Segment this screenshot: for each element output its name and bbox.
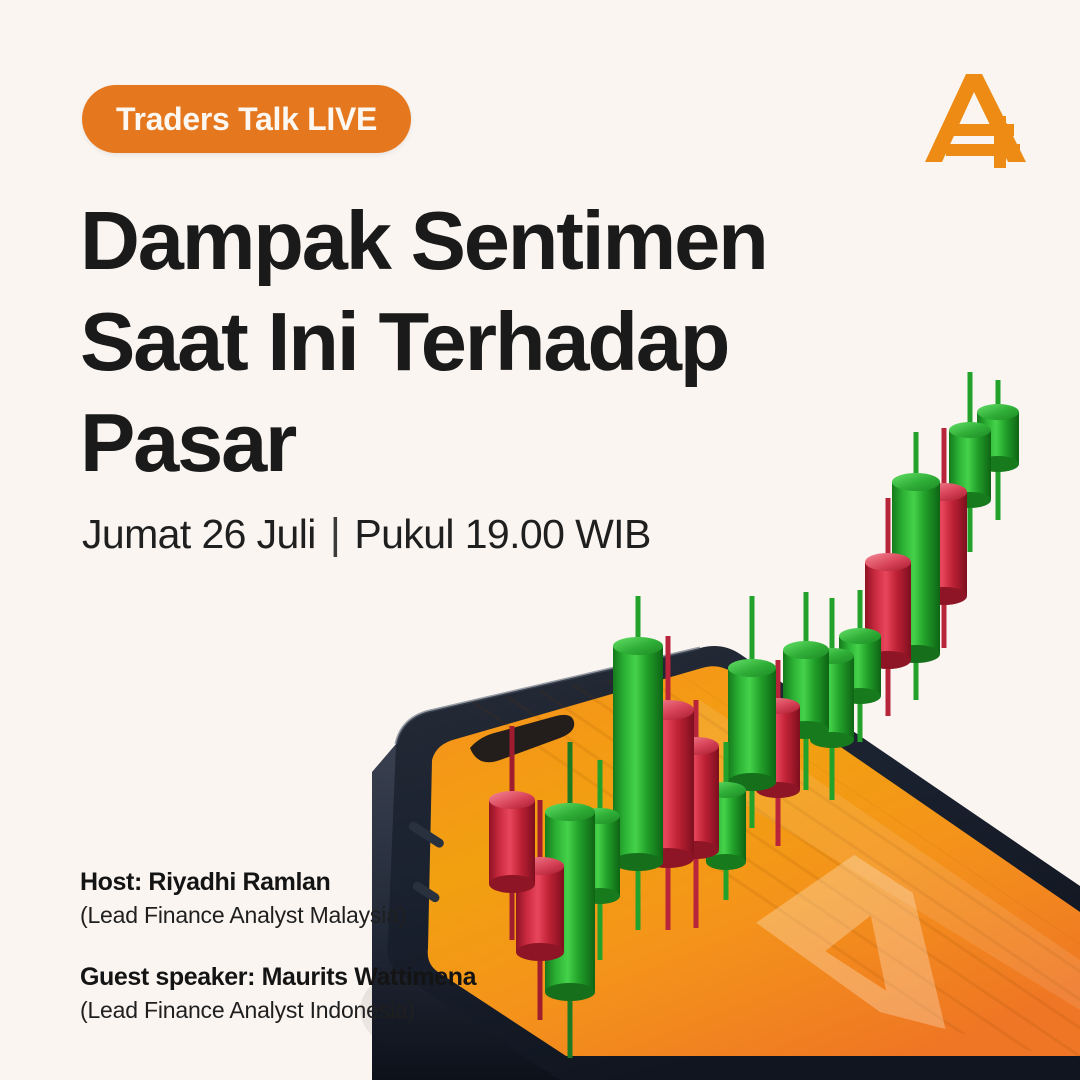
headline-line-3: Pasar bbox=[80, 392, 840, 493]
candle-up bbox=[892, 432, 940, 700]
headline-line-1: Dampak Sentimen bbox=[80, 190, 840, 291]
speaker-credits: Host: Riyadhi Ramlan (Lead Finance Analy… bbox=[80, 866, 476, 1026]
schedule-date: Jumat 26 Juli bbox=[82, 511, 316, 558]
headline-line-2: Saat Ini Terhadap bbox=[80, 291, 840, 392]
credit-host-role: (Lead Finance Analyst Malaysia) bbox=[80, 899, 476, 931]
poster-canvas: Traders Talk LIVE Dampak Sentimen Saat I… bbox=[0, 0, 1080, 1080]
candle-up bbox=[810, 598, 854, 800]
credit-guest-name: Guest speaker: Maurits Wattimena bbox=[80, 961, 476, 994]
ascendex-a-logo-icon bbox=[922, 62, 1034, 174]
candle-down bbox=[489, 726, 535, 940]
credit-guest-role: (Lead Finance Analyst Indonesia) bbox=[80, 994, 476, 1026]
credit-guest: Guest speaker: Maurits Wattimena (Lead F… bbox=[80, 961, 476, 1026]
credit-host: Host: Riyadhi Ramlan (Lead Finance Analy… bbox=[80, 866, 476, 931]
schedule-separator: | bbox=[330, 510, 341, 559]
candle-up bbox=[728, 596, 776, 828]
candle-down bbox=[756, 660, 800, 846]
candle-down bbox=[921, 428, 967, 648]
page-title: Dampak Sentimen Saat Ini Terhadap Pasar bbox=[80, 190, 840, 493]
candle-up bbox=[706, 742, 746, 900]
schedule-time: Pukul 19.00 WIB bbox=[354, 511, 650, 558]
candle-up bbox=[949, 372, 991, 552]
candle-down bbox=[865, 498, 911, 716]
credit-host-name: Host: Riyadhi Ramlan bbox=[80, 866, 476, 899]
candle-down bbox=[673, 700, 719, 928]
candle-up bbox=[545, 742, 595, 1058]
candle-up bbox=[839, 590, 881, 742]
candle-down bbox=[516, 800, 564, 1020]
candle-up bbox=[580, 760, 620, 960]
live-badge-label: Traders Talk LIVE bbox=[116, 101, 377, 138]
candle-up bbox=[977, 380, 1019, 520]
candle-down bbox=[642, 636, 694, 930]
live-badge: Traders Talk LIVE bbox=[82, 85, 411, 153]
phone-device bbox=[372, 644, 1080, 1080]
schedule-line: Jumat 26 Juli | Pukul 19.00 WIB bbox=[82, 510, 651, 559]
candle-up bbox=[613, 596, 663, 930]
candle-up bbox=[783, 592, 829, 790]
